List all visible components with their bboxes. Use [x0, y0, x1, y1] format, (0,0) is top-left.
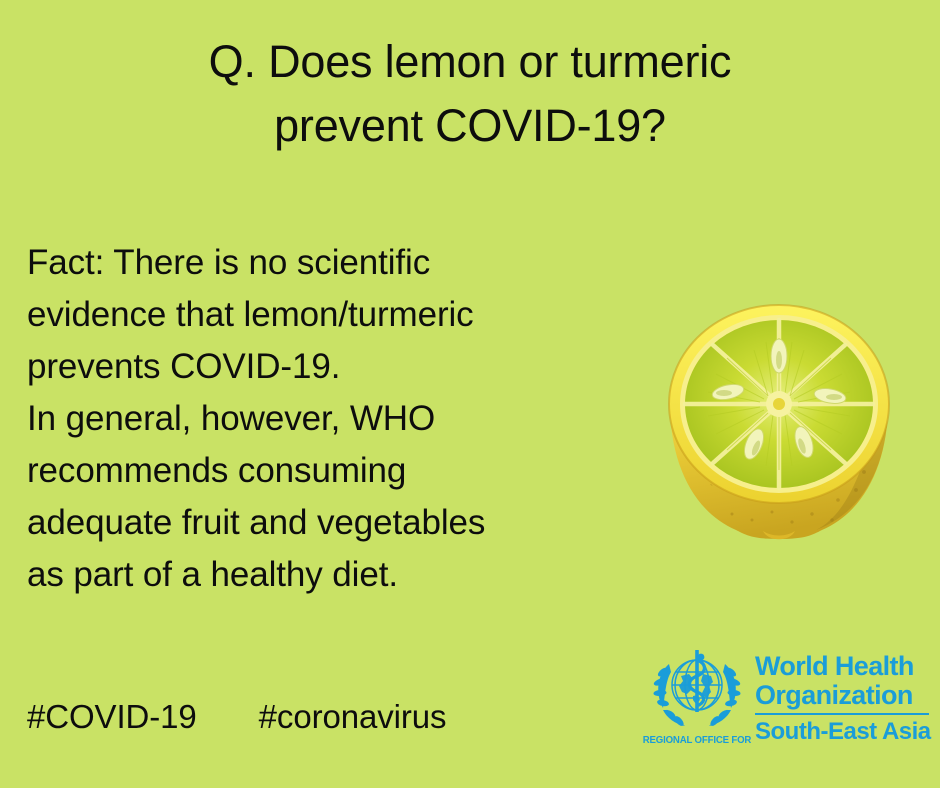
- who-logo: REGIONAL OFFICE FOR World Health Organiz…: [645, 648, 930, 763]
- who-wordmark: World Health Organization South-East Asi…: [749, 648, 931, 745]
- who-emblem-icon: [649, 648, 745, 730]
- hashtag-coronavirus[interactable]: #coronavirus: [259, 697, 447, 737]
- infographic-card: Q. Does lemon or turmeric prevent COVID-…: [0, 0, 940, 788]
- page-title: Q. Does lemon or turmeric prevent COVID-…: [0, 30, 940, 158]
- body-text: Fact: There is no scientific evidence th…: [27, 237, 627, 601]
- who-regional-label: REGIONAL OFFICE FOR: [643, 734, 752, 746]
- hashtag-row: #COVID-19 #coronavirus: [27, 697, 446, 737]
- who-name-line1: World Health: [755, 652, 931, 681]
- who-region-name: South-East Asia: [755, 718, 931, 745]
- who-emblem-group: REGIONAL OFFICE FOR: [645, 648, 749, 746]
- hashtag-covid19[interactable]: #COVID-19: [27, 697, 197, 737]
- halved-lemon-image: [666, 298, 892, 540]
- who-name-line2: Organization: [755, 681, 931, 710]
- who-divider: [755, 713, 929, 715]
